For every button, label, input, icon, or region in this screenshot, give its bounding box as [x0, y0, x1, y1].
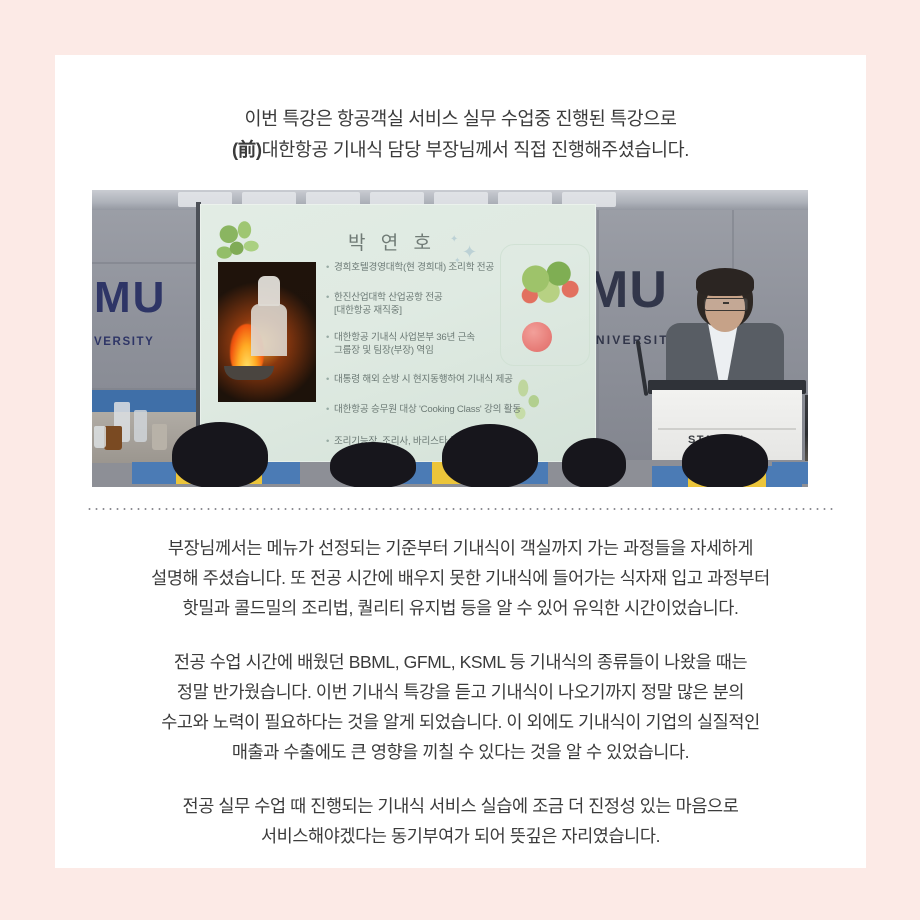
slide-bullet-subtext: [대한항공 재직중]: [326, 305, 442, 318]
paragraph-line: 매출과 수출에도 큰 영향을 끼칠 수 있다는 것을 알 수 있었습니다.: [55, 737, 866, 767]
podium-line: [658, 428, 796, 430]
slide-bullet-subtext: 그룹장 및 팀장(부장) 역임: [326, 345, 475, 358]
audience-head: [330, 442, 416, 487]
slide-bullet-text: 대통령 해외 순방 시 현지동행하여 기내식 제공: [334, 374, 513, 385]
bullet-dot-icon: •: [326, 436, 334, 449]
paragraph-1: 부장님께서는 메뉴가 선정되는 기준부터 기내식이 객실까지 가는 과정들을 자…: [55, 533, 866, 623]
bullet-dot-icon: •: [326, 374, 334, 387]
bottle: [104, 426, 122, 450]
audience-head: [682, 434, 768, 487]
chef-body: [251, 304, 287, 356]
audience-head: [562, 438, 626, 487]
sparkle-icon: ✦: [450, 234, 458, 245]
tomato-icon: [522, 322, 552, 352]
pink-frame: 이번 특강은 항공객실 서비스 실무 수업중 진행된 특강으로 (前)대한항공 …: [0, 0, 920, 920]
chef-hat-icon: [258, 276, 280, 306]
bullet-dot-icon: •: [326, 332, 334, 345]
slide-bullet: •경희호텔경영대학(현 경희대) 조리학 전공: [326, 262, 494, 275]
paragraph-line: 전공 수업 시간에 배웠던 BBML, GFML, KSML 등 기내식의 종류…: [55, 647, 866, 677]
slide-bullet-text: 대한항공 승무원 대상 'Cooking Class' 강의 활동: [334, 404, 521, 415]
audience-head: [442, 424, 538, 487]
slide-bullet-text: 대한항공 기내식 사업본부 36년 근속: [334, 332, 475, 343]
slide-bullet: •대통령 해외 순방 시 현지동행하여 기내식 제공: [326, 374, 513, 387]
page-title: 이번 특강은 항공객실 서비스 실무 수업중 진행된 특강으로 (前)대한항공 …: [55, 103, 866, 165]
slide-bullet-text: 경희호텔경영대학(현 경희대) 조리학 전공: [334, 262, 494, 273]
paragraph-3: 전공 실무 수업 때 진행되는 기내식 서비스 실습에 조금 더 진정성 있는 …: [55, 791, 866, 851]
content-card: 이번 특강은 항공객실 서비스 실무 수업중 진행된 특강으로 (前)대한항공 …: [55, 55, 866, 868]
paragraph-line: 서비스해야겠다는 동기부여가 되어 뜻깊은 자리였습니다.: [55, 821, 866, 851]
salad-illustration-icon: [514, 252, 586, 312]
paragraph-2: 전공 수업 시간에 배웠던 BBML, GFML, KSML 등 기내식의 종류…: [55, 647, 866, 767]
wall-logo-right-text: MU: [585, 263, 668, 319]
side-equipment: [805, 395, 808, 461]
slide-bullet: •대한항공 승무원 대상 'Cooking Class' 강의 활동: [326, 404, 521, 417]
paragraph-line: 수고와 노력이 필요하다는 것을 알게 되었습니다. 이 외에도 기내식이 기업…: [55, 707, 866, 737]
audience-head: [172, 422, 268, 487]
counter-blue-panel: [92, 390, 200, 412]
slide-bullet: •대한항공 기내식 사업본부 36년 근속 그룹장 및 팀장(부장) 역임: [326, 332, 475, 357]
heading-prefix-bold: (前): [232, 139, 262, 160]
body-text: 부장님께서는 메뉴가 선정되는 기준부터 기내식이 객실까지 가는 과정들을 자…: [55, 533, 866, 851]
bullet-dot-icon: •: [326, 262, 334, 275]
bottle: [94, 426, 106, 448]
glasses-icon: [704, 298, 748, 311]
heading-line-2-rest: 대한항공 기내식 담당 부장님께서 직접 진행해주셨습니다.: [262, 139, 689, 160]
presenter-hair: [696, 268, 754, 296]
lecture-photo: MU VERSITY MU UNIVERSITY 박 연 호 ✦ ✦: [92, 190, 808, 487]
chair: [772, 462, 808, 484]
slide-bullet: •한진산업대학 산업공항 전공 [대한항공 재직중]: [326, 292, 442, 317]
bullet-dot-icon: •: [326, 292, 334, 305]
heading-line-1: 이번 특강은 항공객실 서비스 실무 수업중 진행된 특강으로: [55, 103, 866, 134]
bullet-dot-icon: •: [326, 404, 334, 417]
bottle: [152, 424, 167, 450]
wall-logo-left-sub: VERSITY: [94, 319, 186, 345]
wall-seam: [92, 262, 200, 264]
sparkle-icon: ✦: [462, 242, 477, 263]
wall-logo-left: MU VERSITY: [94, 275, 186, 345]
dotted-divider: [86, 508, 836, 510]
paragraph-line: 부장님께서는 메뉴가 선정되는 기준부터 기내식이 객실까지 가는 과정들을 자…: [55, 533, 866, 563]
slide-bullet-text: 한진산업대학 산업공항 전공: [334, 292, 442, 303]
paragraph-line: 핫밀과 콜드밀의 조리법, 퀄리티 유지법 등을 알 수 있어 유익한 시간이었…: [55, 593, 866, 623]
slide-title: 박 연 호: [348, 228, 436, 255]
projection-screen: 박 연 호 ✦ ✦ ✦ •경희호텔경영대학(현 경희대) 조리학 전공: [200, 204, 596, 462]
bottle: [134, 410, 147, 442]
paragraph-line: 정말 반가웠습니다. 이번 기내식 특강을 듣고 기내식이 나오기까지 정말 많…: [55, 677, 866, 707]
paragraph-line: 설명해 주셨습니다. 또 전공 시간에 배우지 못한 기내식에 들어가는 식자재…: [55, 563, 866, 593]
slide-inset-photo: [218, 262, 316, 402]
pan-icon: [224, 366, 274, 380]
paragraph-line: 전공 실무 수업 때 진행되는 기내식 서비스 실습에 조금 더 진정성 있는 …: [55, 791, 866, 821]
wall-logo-left-text: MU: [94, 275, 166, 322]
heading-line-2: (前)대한항공 기내식 담당 부장님께서 직접 진행해주셨습니다.: [55, 134, 866, 165]
